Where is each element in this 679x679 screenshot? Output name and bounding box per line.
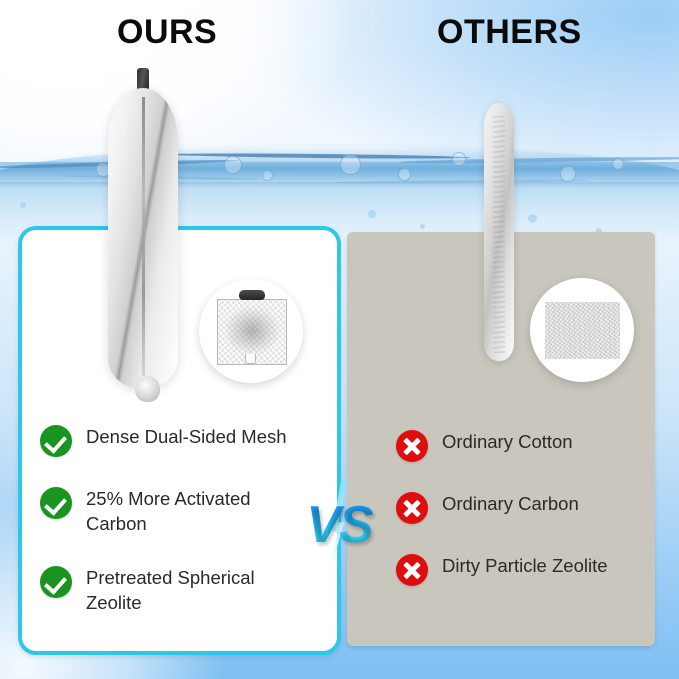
vs-badge: VS — [297, 483, 381, 571]
filter-tail — [135, 376, 160, 402]
water-bubble — [452, 152, 466, 166]
water-bubble — [224, 156, 242, 174]
x-circle-icon — [396, 430, 428, 462]
heading-ours: OURS — [117, 13, 217, 52]
feature-label: 25% More Activated Carbon — [86, 486, 301, 536]
ours-filter-product-image — [108, 88, 178, 388]
check-circle-icon — [40, 487, 72, 519]
water-bubble — [560, 166, 576, 182]
others-closeup-inset — [530, 278, 634, 382]
cotton-pad-face — [545, 302, 620, 359]
feature-label: Pretreated Spherical Zeolite — [86, 565, 301, 615]
water-droplet — [528, 214, 537, 223]
others-feature-list: Ordinary Cotton Ordinary Carbon Dirty Pa… — [396, 429, 646, 586]
comparison-infographic: OURS OTHERS Dense Dual-Sided Mesh 25% Mo… — [0, 0, 679, 679]
filter-texture — [493, 116, 505, 353]
check-circle-icon — [40, 425, 72, 457]
others-filter-product-image — [484, 103, 514, 361]
water-bubble — [340, 154, 361, 175]
vs-label: VS — [297, 495, 381, 555]
feature-label: Dense Dual-Sided Mesh — [86, 424, 287, 449]
feature-label: Ordinary Carbon — [442, 491, 579, 516]
feature-row: Dense Dual-Sided Mesh — [40, 424, 328, 457]
water-bubble — [612, 158, 624, 170]
water-droplet — [368, 210, 376, 218]
water-bubble — [262, 170, 273, 181]
check-circle-icon — [40, 566, 72, 598]
feature-row: Ordinary Carbon — [396, 491, 646, 524]
heading-others: OTHERS — [437, 13, 582, 52]
cartridge-notch — [245, 354, 256, 364]
cartridge-handle — [239, 290, 265, 300]
filter-seam — [142, 97, 145, 376]
feature-row: Dirty Particle Zeolite — [396, 553, 646, 586]
x-circle-icon — [396, 554, 428, 586]
water-bubble — [398, 168, 411, 181]
water-droplet — [20, 202, 26, 208]
feature-row: Ordinary Cotton — [396, 429, 646, 462]
ours-closeup-inset — [199, 279, 303, 383]
x-circle-icon — [396, 492, 428, 524]
feature-row: Pretreated Spherical Zeolite — [40, 565, 328, 615]
water-droplet — [420, 224, 425, 229]
feature-row: 25% More Activated Carbon — [40, 486, 328, 536]
feature-label: Dirty Particle Zeolite — [442, 553, 608, 578]
feature-label: Ordinary Cotton — [442, 429, 573, 454]
ours-feature-list: Dense Dual-Sided Mesh 25% More Activated… — [40, 424, 328, 615]
